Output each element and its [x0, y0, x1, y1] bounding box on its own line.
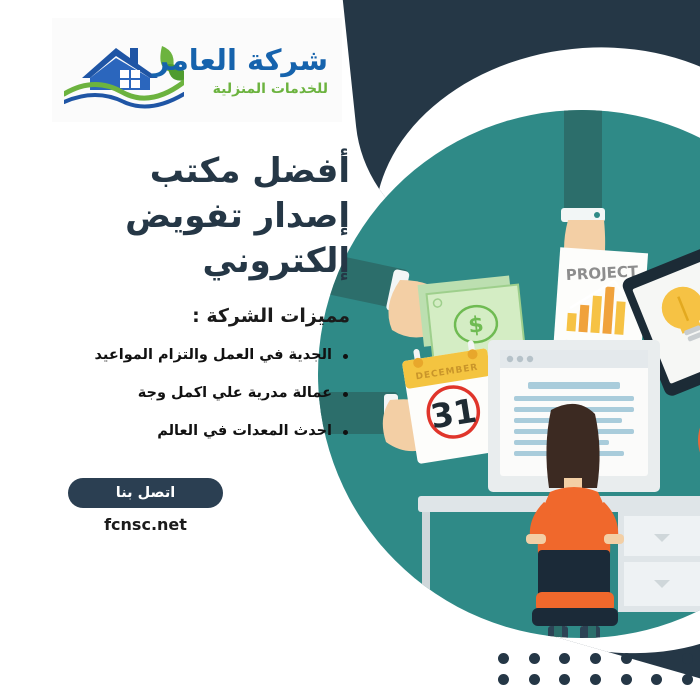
money-symbol: $	[467, 312, 485, 338]
dot	[621, 653, 632, 664]
dot	[682, 653, 693, 664]
dot	[682, 674, 693, 685]
features-heading: مميزات الشركة :	[80, 305, 350, 327]
logo-tagline: للخدمات المنزلية	[153, 82, 328, 96]
promo-poster: PROJECT	[0, 0, 700, 700]
page-title: أفضل مكتب إصدار تفويض إلكتروني	[62, 149, 350, 284]
company-logo[interactable]: شركة العامر للخدمات المنزلية	[52, 18, 342, 122]
calendar-day-label: 31	[428, 391, 479, 437]
office-teamwork-illustration: PROJECT	[318, 110, 700, 638]
logo-company-name: شركة العامر	[153, 46, 328, 75]
illustration-circle: PROJECT	[318, 110, 700, 638]
features-list: الجدية في العمل والتزام المواعيد عمالة م…	[80, 347, 350, 461]
dot	[651, 674, 662, 685]
list-item: عمالة مدرية علي اكمل وجة	[80, 385, 350, 401]
dot	[559, 674, 570, 685]
dot	[529, 674, 540, 685]
dot	[559, 653, 570, 664]
dot	[621, 674, 632, 685]
dot	[529, 653, 540, 664]
list-item: احدث المعدات في العالم	[80, 423, 350, 439]
dot	[590, 653, 601, 664]
dot	[590, 674, 601, 685]
hand-project-document-group: PROJECT	[552, 110, 648, 377]
dot	[651, 653, 662, 664]
dot-grid-decoration	[488, 648, 700, 690]
website-url[interactable]: fcnsc.net	[68, 515, 223, 534]
dot	[498, 674, 509, 685]
list-item: الجدية في العمل والتزام المواعيد	[80, 347, 350, 363]
logo-text-block: شركة العامر للخدمات المنزلية	[153, 46, 328, 96]
contact-us-button[interactable]: اتصل بنا	[68, 478, 223, 508]
dot	[498, 653, 509, 664]
